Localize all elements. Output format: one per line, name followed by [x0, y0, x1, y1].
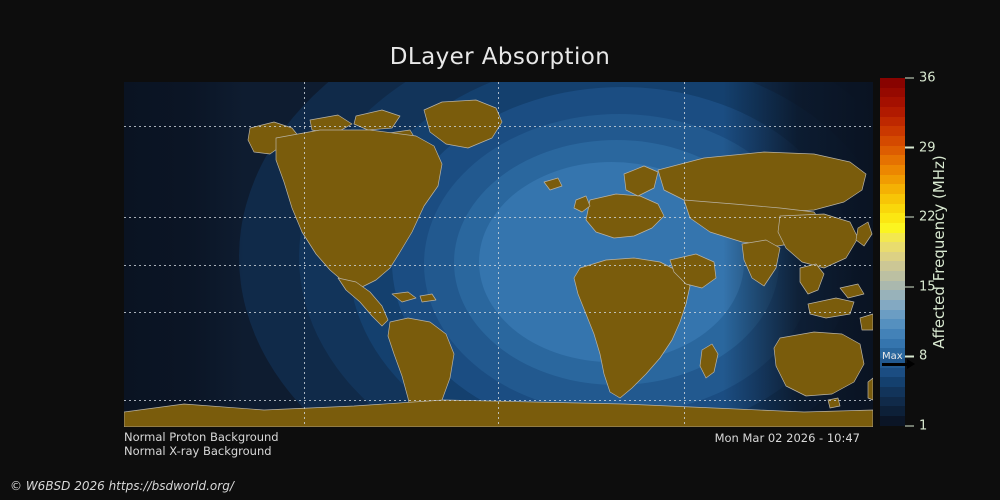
- colorbar-segment: [880, 290, 905, 300]
- copyright: © W6BSD 2026 https://bsdworld.org/: [10, 479, 234, 493]
- colorbar-segment: [880, 88, 905, 98]
- max-marker-label: Max: [882, 351, 903, 362]
- colorbar-segment: [880, 107, 905, 117]
- page-title: DLayer Absorption: [0, 44, 1000, 70]
- max-marker: Max: [881, 351, 921, 373]
- world-map[interactable]: [124, 82, 873, 427]
- colorbar-segment: [880, 281, 905, 291]
- colorbar-segment: [880, 204, 905, 214]
- colorbar-tick: 1: [905, 419, 927, 434]
- colorbar-tick-mark: [905, 77, 914, 79]
- max-marker-arrow-shaft: [882, 363, 909, 366]
- colorbar-segment: [880, 397, 905, 407]
- colorbar-segment: [880, 339, 905, 349]
- colorbar-segment: [880, 387, 905, 397]
- colorbar-segment: [880, 78, 905, 88]
- colorbar-tick-mark: [905, 147, 914, 149]
- continents-layer: [124, 82, 873, 427]
- colorbar-segment: [880, 261, 905, 271]
- colorbar-segment: [880, 223, 905, 233]
- colorbar-segment: [880, 184, 905, 194]
- timestamp: Mon Mar 02 2026 - 10:47: [715, 431, 860, 445]
- colorbar-segment: [880, 271, 905, 281]
- colorbar-segment: [880, 213, 905, 223]
- colorbar-segment: [880, 136, 905, 146]
- colorbar-segment: [880, 194, 905, 204]
- colorbar-tick-mark: [905, 286, 914, 288]
- colorbar-ticks: 1815222936: [905, 78, 1000, 426]
- colorbar[interactable]: [880, 78, 905, 426]
- proton-status: Normal Proton Background: [124, 430, 279, 444]
- colorbar-segment: [880, 233, 905, 243]
- colorbar-segment: [880, 310, 905, 320]
- colorbar-axis-label-text: Affected Frequency (MHz): [930, 155, 948, 349]
- colorbar-segment: [880, 242, 905, 252]
- colorbar-segment: [880, 165, 905, 175]
- colorbar-segment: [880, 300, 905, 310]
- xray-status: Normal X-ray Background: [124, 444, 272, 458]
- colorbar-axis-label: Affected Frequency (MHz): [927, 78, 951, 426]
- colorbar-segment: [880, 406, 905, 416]
- colorbar-segment: [880, 126, 905, 136]
- colorbar-segment: [880, 252, 905, 262]
- max-marker-arrow-head: [907, 359, 915, 369]
- colorbar-segment: [880, 175, 905, 185]
- colorbar-segment: [880, 319, 905, 329]
- dlayer-absorption-plot: DLayer Absorption: [0, 0, 1000, 500]
- colorbar-segment: [880, 117, 905, 127]
- colorbar-segment: [880, 416, 905, 426]
- colorbar-segment: [880, 146, 905, 156]
- colorbar-segment: [880, 329, 905, 339]
- colorbar-tick-mark: [905, 425, 914, 427]
- colorbar-tick-mark: [905, 216, 914, 218]
- colorbar-segment: [880, 377, 905, 387]
- colorbar-segment: [880, 97, 905, 107]
- colorbar-segment: [880, 155, 905, 165]
